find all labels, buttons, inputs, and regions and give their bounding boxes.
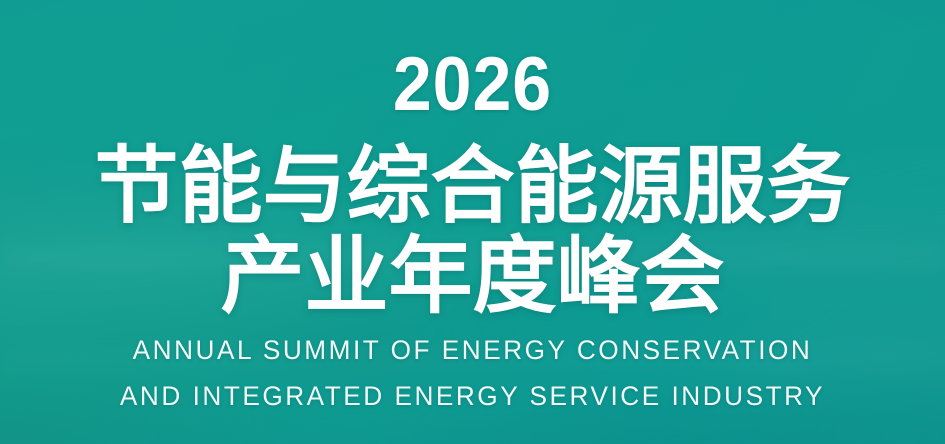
event-year: 2026: [38, 47, 907, 123]
subtitle-english-line-2: AND INTEGRATED ENERGY SERVICE INDUSTRY: [14, 383, 931, 410]
title-chinese-line-1: 节能与综合能源服务: [0, 144, 945, 228]
event-poster: 2026 节能与综合能源服务 产业年度峰会 ANNUAL SUMMIT OF E…: [0, 0, 945, 444]
title-chinese-line-2: 产业年度峰会: [0, 234, 945, 318]
poster-content: 2026 节能与综合能源服务 产业年度峰会 ANNUAL SUMMIT OF E…: [0, 0, 945, 444]
subtitle-english-line-1: ANNUAL SUMMIT OF ENERGY CONSERVATION: [14, 337, 931, 364]
